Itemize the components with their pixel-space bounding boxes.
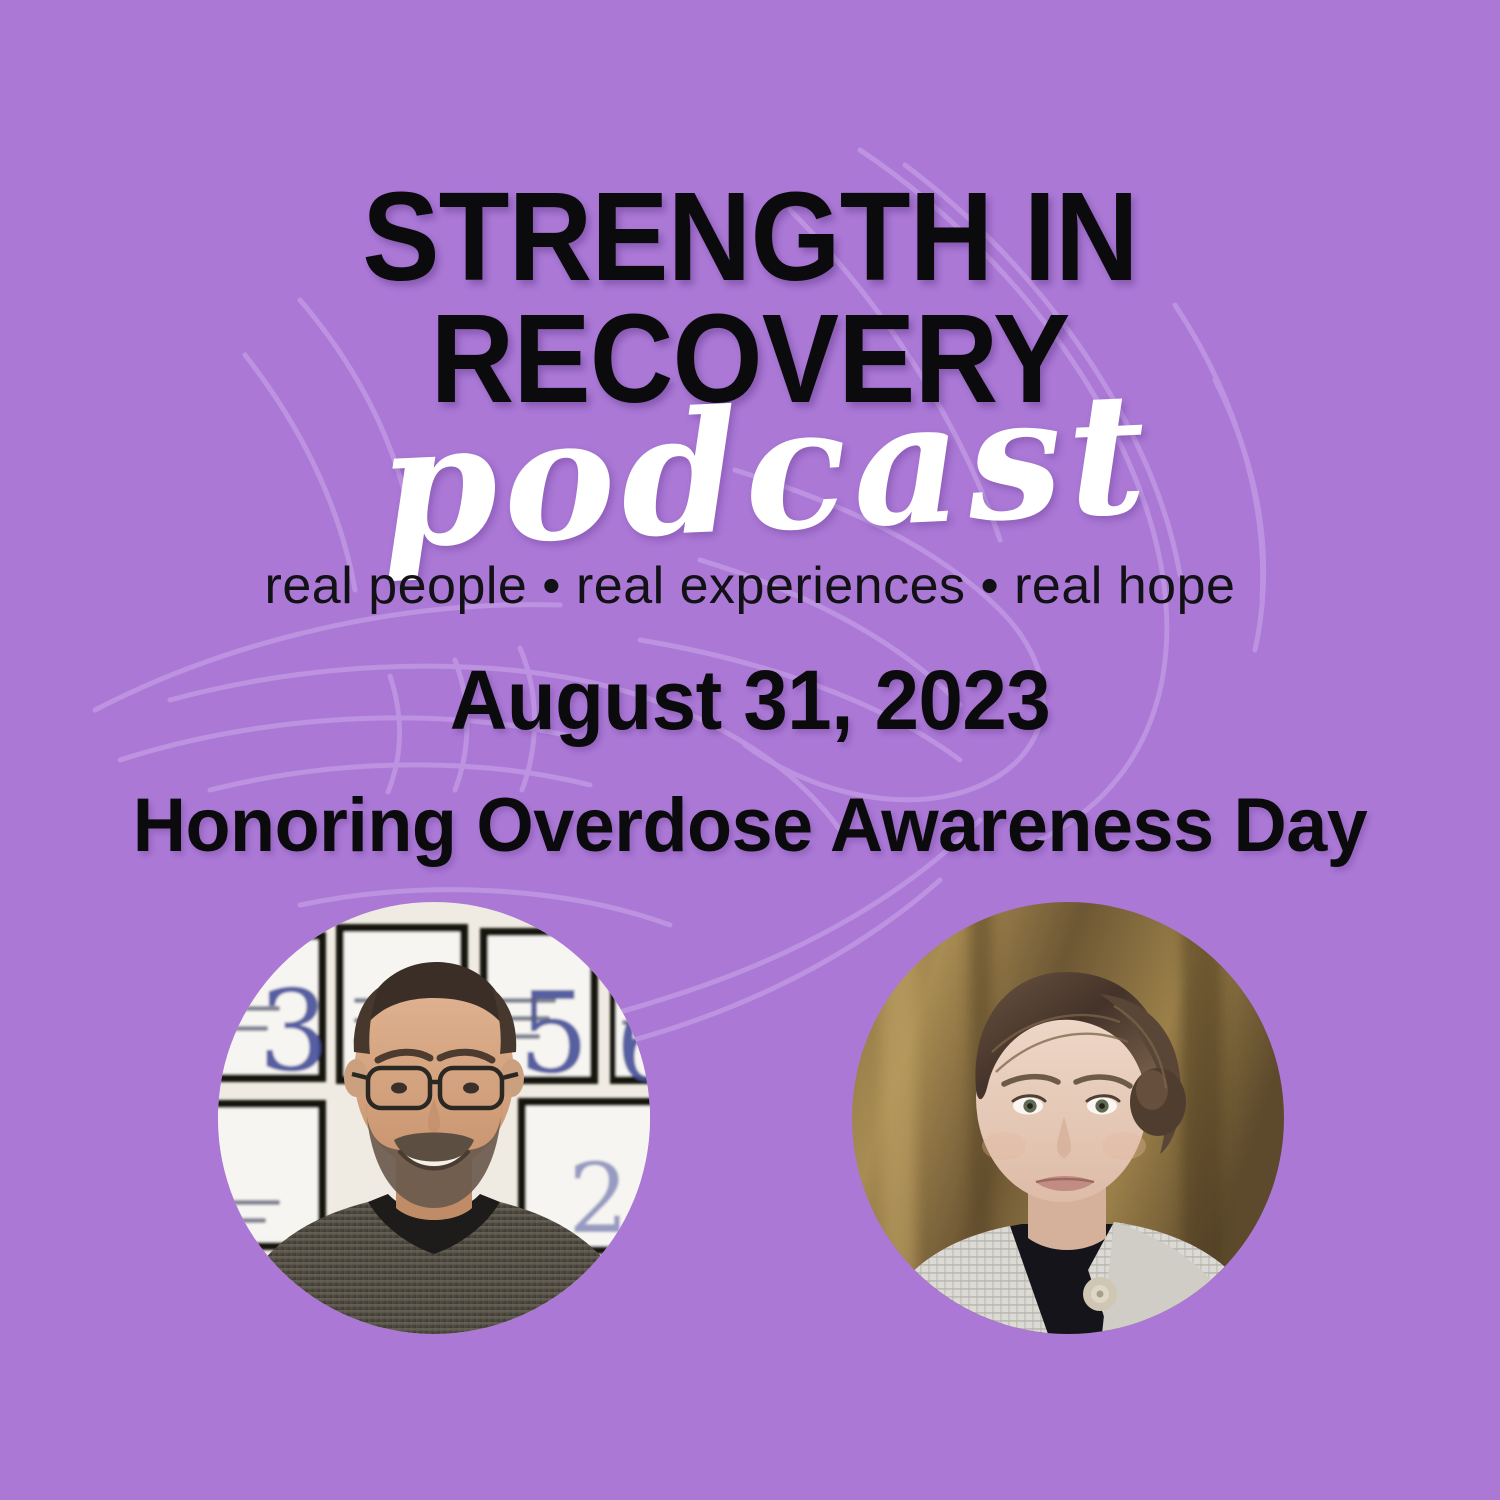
script-word-podcast: podcast [376, 369, 1155, 572]
guest-photo-left: 3 5 6 2 [218, 902, 650, 1334]
svg-text:6: 6 [616, 987, 650, 1104]
episode-date: August 31, 2023 [38, 652, 1463, 749]
svg-text:3: 3 [258, 967, 329, 1097]
podcast-cover-art: STRENGTH IN RECOVERY podcast real people… [0, 0, 1500, 1500]
title-line-1: STRENGTH IN [60, 176, 1440, 298]
guest-photo-right [852, 902, 1284, 1334]
episode-subtitle: Honoring Overdose Awareness Day [23, 782, 1478, 869]
brand-tagline: real people • real experiences • real ho… [0, 556, 1500, 616]
